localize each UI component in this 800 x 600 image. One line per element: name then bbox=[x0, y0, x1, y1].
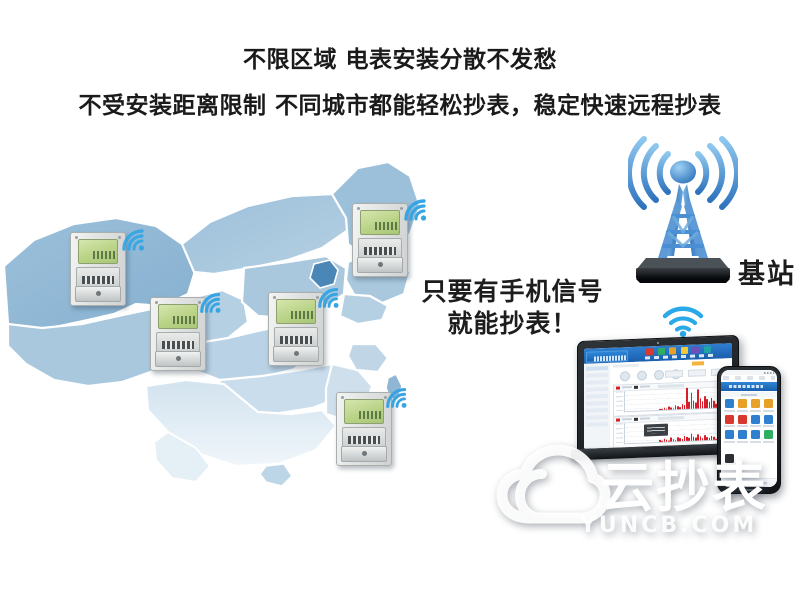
sidebar-item[interactable] bbox=[586, 373, 608, 378]
meter-lcd-display bbox=[158, 304, 198, 329]
app-header bbox=[721, 382, 777, 391]
meter-terminal-cover bbox=[75, 286, 121, 302]
sidebar-item[interactable] bbox=[586, 394, 608, 399]
meter-screw bbox=[155, 301, 158, 304]
headline-line-2: 不受安装距离限制 不同城市都能轻松抄表，稳定快速远程抄表 bbox=[0, 86, 800, 120]
app-icon-label bbox=[763, 425, 774, 427]
nav-icon-4[interactable] bbox=[681, 346, 688, 353]
meter-management-dashboard bbox=[584, 343, 732, 449]
chart-title bbox=[658, 384, 684, 387]
meter-terminal-cover bbox=[273, 346, 319, 362]
app-icon-6[interactable] bbox=[737, 415, 748, 428]
app-icon-glyph bbox=[738, 430, 747, 439]
meter-body bbox=[70, 232, 126, 306]
dashboard-content bbox=[610, 358, 732, 448]
sidebar-item[interactable] bbox=[586, 387, 608, 392]
meter-lcd-display bbox=[78, 239, 118, 264]
dashboard-brand-text bbox=[594, 355, 626, 361]
app-icon-label bbox=[724, 425, 735, 427]
app-icon-glyph bbox=[751, 415, 760, 424]
app-icon-glyph bbox=[738, 399, 747, 408]
app-icon-2[interactable] bbox=[737, 399, 748, 412]
app-nav-row[interactable] bbox=[723, 376, 775, 380]
headline-line-1: 不限区域 电表安装分散不发愁 bbox=[0, 40, 800, 74]
nav-icon-6[interactable] bbox=[704, 345, 711, 352]
dashboard-logo bbox=[586, 350, 628, 363]
chart-tooltip bbox=[644, 424, 668, 437]
toolbar-button[interactable] bbox=[654, 370, 664, 380]
meter-screw bbox=[357, 207, 360, 210]
chart-y-axis bbox=[616, 391, 623, 412]
meter-wifi-icon bbox=[402, 194, 432, 224]
watermark-domain: YUNCB.COM bbox=[579, 513, 757, 538]
app-icon-label bbox=[737, 410, 748, 412]
app-icon-glyph bbox=[725, 415, 734, 424]
meter-terminal-cover bbox=[341, 446, 387, 462]
meter-body bbox=[352, 203, 408, 277]
app-icon-label bbox=[724, 410, 735, 412]
cell-tower-icon bbox=[628, 136, 738, 288]
app-icon-glyph bbox=[725, 430, 734, 439]
app-icon-5[interactable] bbox=[724, 415, 735, 428]
status-badge bbox=[692, 361, 704, 365]
app-icon-8[interactable] bbox=[763, 415, 774, 428]
app-icon-glyph bbox=[751, 399, 760, 408]
chart-panel-top bbox=[613, 380, 729, 416]
toolbar-button[interactable] bbox=[637, 370, 647, 380]
chart-bars-top bbox=[625, 387, 726, 411]
meter-wifi-icon bbox=[384, 383, 412, 411]
meter-xinjiang bbox=[70, 232, 126, 306]
chart-title bbox=[658, 416, 684, 419]
app-icon-4[interactable] bbox=[763, 399, 774, 412]
webcam-icon bbox=[657, 342, 659, 344]
app-icon-glyph bbox=[764, 399, 773, 408]
app-icon-glyph bbox=[764, 415, 773, 424]
meter-screw bbox=[273, 296, 276, 299]
sidebar-item[interactable] bbox=[586, 408, 608, 413]
app-icon-3[interactable] bbox=[750, 399, 761, 412]
meter-terminal-cover bbox=[357, 257, 403, 273]
app-icon-label bbox=[763, 410, 774, 412]
laptop-lid bbox=[577, 335, 739, 455]
filter-field[interactable] bbox=[665, 370, 683, 378]
meter-beijing bbox=[352, 203, 408, 277]
meter-screw bbox=[75, 236, 78, 239]
app-icon-glyph bbox=[751, 430, 760, 439]
watermark-logo: 云抄表 YUNCB.COM bbox=[496, 440, 796, 544]
app-icon-1[interactable] bbox=[724, 399, 735, 412]
callout-line-2: 就能抄表！ bbox=[405, 308, 620, 340]
watermark-brand: 云抄表 bbox=[600, 456, 768, 519]
meter-lcd-display bbox=[344, 399, 384, 424]
breadcrumb bbox=[613, 364, 639, 368]
dashboard-sidebar[interactable] bbox=[584, 363, 611, 449]
cloud-icon bbox=[502, 450, 605, 518]
sidebar-item[interactable] bbox=[586, 415, 608, 420]
chart-legend bbox=[616, 417, 650, 421]
meter-terminal-cover bbox=[155, 351, 201, 367]
nav-icon-1[interactable] bbox=[646, 348, 653, 355]
callout-text: 只要有手机信号 就能抄表！ bbox=[405, 276, 620, 340]
chart-legend bbox=[616, 385, 650, 389]
chart-plot-area bbox=[624, 387, 726, 412]
sidebar-item[interactable] bbox=[586, 380, 608, 385]
meter-wifi-icon bbox=[120, 224, 150, 254]
sidebar-item[interactable] bbox=[586, 422, 608, 427]
app-section-title bbox=[721, 392, 777, 397]
meter-wifi-icon bbox=[316, 283, 344, 311]
callout-line-1: 只要有手机信号 bbox=[405, 276, 620, 308]
nav-icon-5[interactable] bbox=[692, 346, 699, 353]
nav-icon-2[interactable] bbox=[658, 347, 665, 354]
nav-icon-3[interactable] bbox=[669, 347, 676, 354]
app-icon-label bbox=[737, 425, 748, 427]
toolbar-button[interactable] bbox=[620, 371, 630, 381]
app-icon-glyph bbox=[738, 415, 747, 424]
app-icon-glyph bbox=[764, 430, 773, 439]
phone-status-bar bbox=[721, 370, 777, 375]
meter-lcd-display bbox=[276, 299, 316, 324]
meter-lcd-display bbox=[360, 210, 400, 235]
app-icon-label bbox=[750, 410, 761, 412]
meter-wifi-icon bbox=[198, 288, 226, 316]
filter-field[interactable] bbox=[688, 369, 706, 377]
app-icon-grid[interactable] bbox=[724, 399, 774, 443]
poster-canvas: 不限区域 电表安装分散不发愁 不受安装距离限制 不同城市都能轻松抄表，稳定快速远… bbox=[0, 0, 800, 600]
wifi-signal-icon bbox=[661, 302, 705, 338]
meter-screw bbox=[341, 396, 344, 399]
app-icon-7[interactable] bbox=[750, 415, 761, 428]
laptop-screen bbox=[584, 343, 732, 449]
sidebar-item[interactable] bbox=[586, 401, 608, 406]
tower-label: 基站 bbox=[738, 252, 796, 291]
app-icon-label bbox=[750, 425, 761, 427]
app-icon-glyph bbox=[725, 399, 734, 408]
sidebar-item[interactable] bbox=[586, 366, 608, 371]
